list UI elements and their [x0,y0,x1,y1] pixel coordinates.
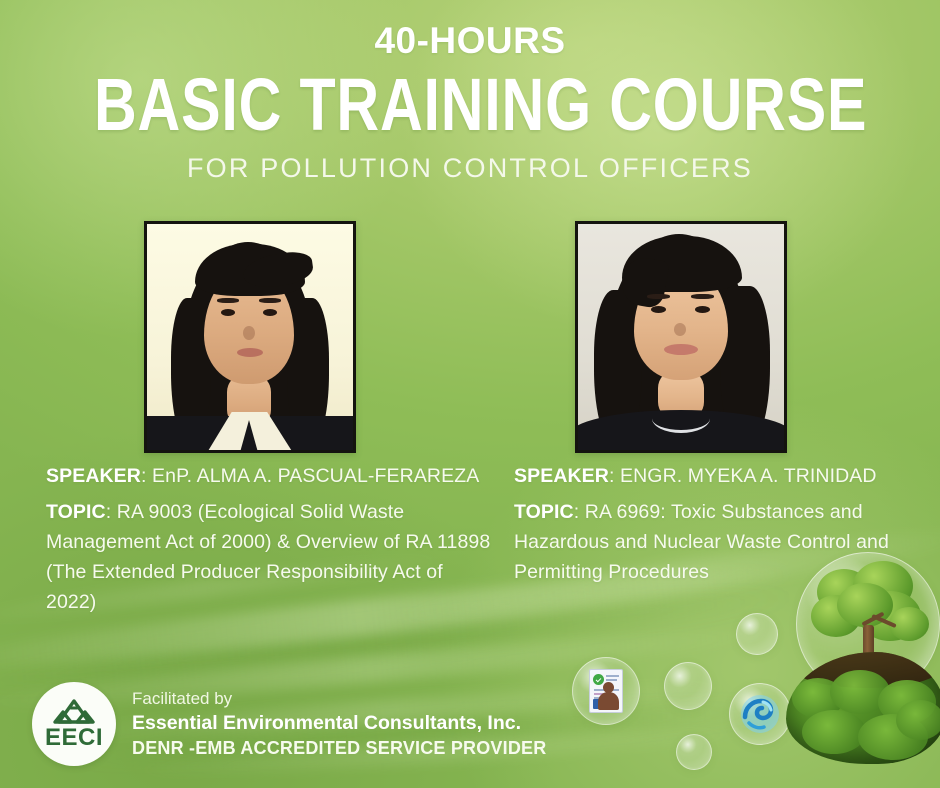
speaker-label-right: SPEAKER [514,465,609,487]
speaker-photo-right [575,221,787,453]
topic-label-right: TOPIC [514,501,574,523]
topic-line-left: TOPIC: RA 9003 (Ecological Solid Waste M… [46,497,496,617]
poster-subtitle: FOR POLLUTION CONTROL OFFICERS [0,155,940,182]
water-swirl-glyph [739,693,781,735]
speaker-line-right: SPEAKER: ENGR. MYEKA A. TRINIDAD [514,461,914,491]
speaker-block-left: SPEAKER: EnP. ALMA A. PASCUAL-FERAREZA T… [46,461,496,623]
topic-text-left: : RA 9003 (Ecological Solid Waste Manage… [46,501,490,613]
footer-text: Facilitated by Essential Environmental C… [132,688,546,760]
permit-document-icon [572,657,640,725]
topic-label-left: TOPIC [46,501,106,523]
facilitated-by-label: Facilitated by [132,688,546,709]
bubble-icon [676,734,712,770]
footer: EECI Facilitated by Essential Environmen… [32,682,546,766]
speaker-label-left: SPEAKER [46,465,141,487]
speaker-line-left: SPEAKER: EnP. ALMA A. PASCUAL-FERAREZA [46,461,496,491]
speaker-name-left: : EnP. ALMA A. PASCUAL-FERAREZA [141,465,479,487]
organization-name: Essential Environmental Consultants, Inc… [132,711,546,736]
course-duration: 40-HOURS [0,22,940,59]
eeci-logo-text: EECI [45,726,103,750]
mountain-icon [49,699,99,725]
water-swirl-icon [729,683,791,745]
hand-holding-soil-icon [786,652,940,764]
poster-title: BASIC TRAINING COURSE [94,71,846,139]
bubble-icon [664,662,712,710]
eeci-logo: EECI [32,682,116,766]
accreditation-line: DENR -EMB ACCREDITED SERVICE PROVIDER [132,737,546,760]
bubble-icon [736,613,778,655]
speaker-photo-left [144,221,356,453]
poster-header: 40-HOURS BASIC TRAINING COURSE FOR POLLU… [0,0,940,182]
speaker-name-right: : ENGR. MYEKA A. TRINIDAD [609,465,877,487]
poster-canvas: 40-HOURS BASIC TRAINING COURSE FOR POLLU… [0,0,940,788]
